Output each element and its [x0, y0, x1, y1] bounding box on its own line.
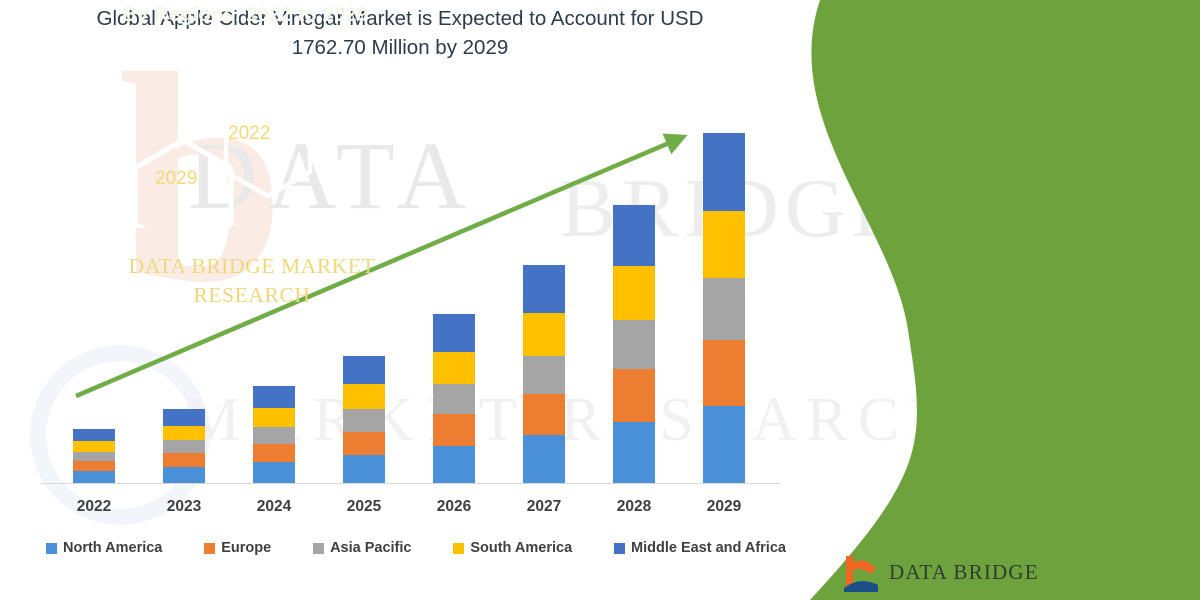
- bar-segment[interactable]: [73, 461, 115, 471]
- bar-segment[interactable]: [73, 452, 115, 461]
- brand-line-1: DATA BRIDGE MARKET: [84, 252, 420, 281]
- legend-label: Middle East and Africa: [631, 540, 786, 556]
- bar-segment[interactable]: [343, 409, 385, 431]
- legend-swatch-icon: [453, 543, 464, 554]
- legend-label: North America: [63, 540, 162, 556]
- bar-2027[interactable]: [523, 265, 565, 483]
- bar-segment[interactable]: [613, 205, 655, 267]
- bar-2023[interactable]: [163, 409, 205, 483]
- bar-segment[interactable]: [163, 467, 205, 483]
- bar-segment[interactable]: [433, 414, 475, 446]
- brand-name: DATA BRIDGE MARKET RESEARCH: [0, 252, 420, 310]
- bar-segment[interactable]: [523, 265, 565, 314]
- legend-swatch-icon: [46, 543, 57, 554]
- bar-2028[interactable]: [613, 205, 655, 483]
- bar-segment[interactable]: [613, 320, 655, 369]
- bar-segment[interactable]: [253, 386, 295, 408]
- hexagon-2022-icon: [226, 100, 310, 196]
- hexagon-badges: [0, 88, 420, 228]
- legend-swatch-icon: [313, 543, 324, 554]
- footer-logo: DATA BRIDGE: [840, 552, 1039, 592]
- bar-segment[interactable]: [163, 426, 205, 440]
- bar-segment[interactable]: [433, 384, 475, 414]
- legend-item-asia-pacific[interactable]: Asia Pacific: [313, 540, 411, 556]
- bar-segment[interactable]: [253, 427, 295, 444]
- brand-line-2: RESEARCH: [84, 281, 420, 310]
- bar-segment[interactable]: [73, 441, 115, 452]
- chart-legend: North AmericaEuropeAsia PacificSouth Ame…: [46, 540, 786, 556]
- legend-item-middle-east-and-africa[interactable]: Middle East and Africa: [614, 540, 786, 556]
- legend-swatch-icon: [204, 543, 215, 554]
- bar-segment[interactable]: [253, 462, 295, 483]
- bar-segment[interactable]: [523, 394, 565, 435]
- bar-segment[interactable]: [433, 314, 475, 352]
- bar-2029[interactable]: [703, 133, 745, 483]
- panel-heading: By Regions, 2022 to 2029: [0, 0, 420, 27]
- bar-segment[interactable]: [613, 369, 655, 422]
- bar-segment[interactable]: [253, 444, 295, 462]
- bar-segment[interactable]: [163, 453, 205, 467]
- bar-2022[interactable]: [73, 429, 115, 483]
- green-side-panel: [780, 0, 1200, 600]
- bar-segment[interactable]: [73, 471, 115, 483]
- bar-segment[interactable]: [523, 313, 565, 355]
- bar-segment[interactable]: [343, 384, 385, 409]
- legend-item-north-america[interactable]: North America: [46, 540, 162, 556]
- bar-2025[interactable]: [343, 356, 385, 483]
- bar-segment[interactable]: [163, 440, 205, 453]
- bar-segment[interactable]: [343, 455, 385, 483]
- bar-2026[interactable]: [433, 314, 475, 483]
- bar-segment[interactable]: [703, 278, 745, 340]
- legend-label: Asia Pacific: [330, 540, 411, 556]
- hexagon-2029-icon: [135, 140, 231, 228]
- legend-swatch-icon: [614, 543, 625, 554]
- bar-segment[interactable]: [343, 356, 385, 384]
- legend-item-south-america[interactable]: South America: [453, 540, 572, 556]
- bar-segment[interactable]: [613, 266, 655, 320]
- infographic-root: b DATA BRIDGE MARKET RESEARCH Global App…: [0, 0, 1200, 600]
- legend-label: South America: [470, 540, 572, 556]
- bar-segment[interactable]: [433, 352, 475, 385]
- bar-segment[interactable]: [523, 435, 565, 483]
- bar-segment[interactable]: [523, 356, 565, 394]
- bar-segment[interactable]: [253, 408, 295, 427]
- bar-segment[interactable]: [613, 422, 655, 483]
- bridge-logo-icon: [840, 552, 880, 592]
- bar-2024[interactable]: [253, 386, 295, 483]
- bar-segment[interactable]: [703, 406, 745, 483]
- legend-label: Europe: [221, 540, 271, 556]
- legend-item-europe[interactable]: Europe: [204, 540, 271, 556]
- bar-segment[interactable]: [433, 446, 475, 483]
- bar-segment[interactable]: [73, 429, 115, 441]
- bar-segment[interactable]: [343, 432, 385, 456]
- footer-logo-text: DATA BRIDGE: [889, 560, 1039, 585]
- bar-segment[interactable]: [703, 211, 745, 278]
- bar-segment[interactable]: [703, 340, 745, 407]
- bar-segment[interactable]: [703, 133, 745, 211]
- bar-segment[interactable]: [163, 409, 205, 426]
